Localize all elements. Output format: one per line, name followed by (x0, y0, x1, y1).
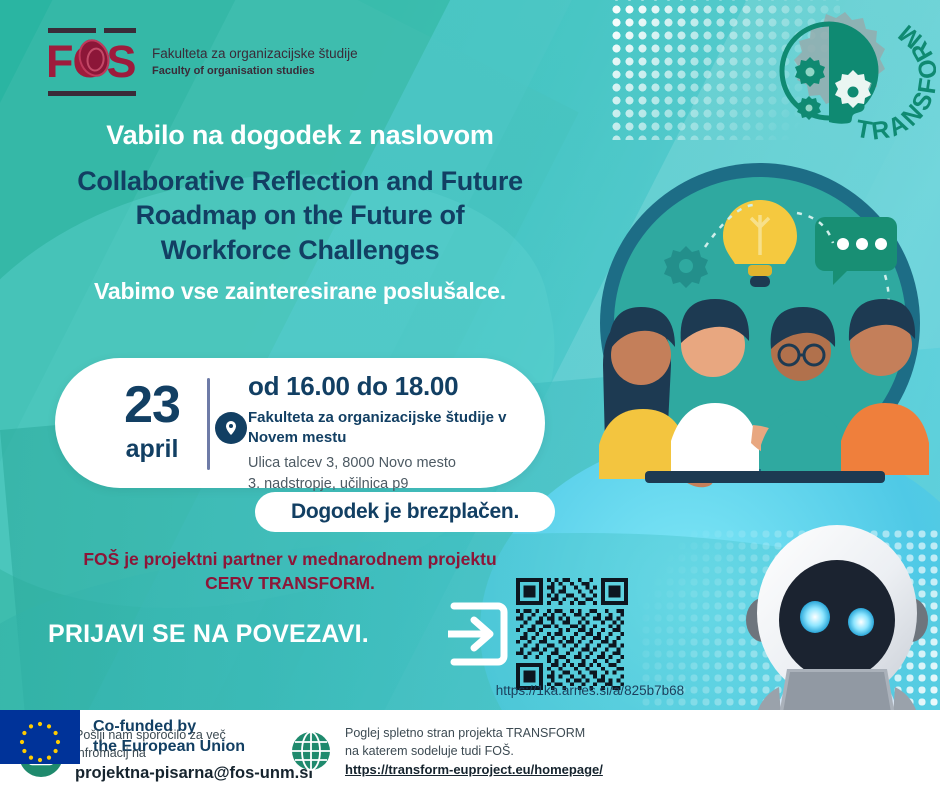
free-event-label: Dogodek je brezplačen. (291, 500, 519, 524)
fos-name-english: Faculty of organisation studies (152, 65, 358, 78)
robot-eye-right (848, 608, 874, 636)
location-pin-icon (215, 412, 247, 444)
title-line-1: Collaborative Reflection and Future (10, 164, 590, 198)
free-event-badge: Dogodek je brezplačen. (255, 492, 555, 532)
venue-line-1: Fakulteta za organizacijske študije v (248, 408, 533, 428)
signup-label: PRIJAVI SE NA POVEZAVI. (48, 620, 369, 649)
fos-logo-name: Fakulteta za organizacijske študije Facu… (152, 46, 358, 78)
web-text-line-1: Poglej spletno stran projekta TRANSFORM (345, 724, 603, 742)
invite-heading: Vabilo na dogodek z naslovom (0, 120, 600, 151)
mail-text-line-2: infromacij na (75, 744, 313, 762)
title-line-2: Roadmap on the Future of (10, 198, 590, 232)
event-month: april (97, 435, 207, 464)
event-details-card: 23 april od 16.00 do 18.00 Fakulteta za … (55, 358, 545, 488)
event-time: od 16.00 do 18.00 (248, 371, 458, 402)
footer-project-url[interactable]: https://transform-euproject.eu/homepage/ (345, 762, 603, 777)
signup-qr-code[interactable] (516, 578, 628, 690)
signup-url[interactable]: https://1ka.arnes.si/a/825b7b68 (470, 683, 710, 698)
footer-mail-text: Pošlji nam sporočilo za več infromacij n… (75, 726, 313, 783)
eu-flag-icon (0, 710, 80, 764)
event-day-number: 23 (97, 380, 207, 431)
card-divider (207, 378, 210, 470)
footer-email-address[interactable]: projektna-pisarna@fos-unm.si (75, 764, 313, 783)
event-poster: FOS Fakulteta za organizacijske študije … (0, 0, 940, 788)
event-date: 23 april (97, 380, 207, 464)
fos-bar-top-left (48, 28, 96, 33)
transform-logo: TRANSFORM (726, 0, 936, 166)
fos-logo: FOS Fakulteta za organizacijske študije … (46, 26, 358, 98)
page-title: Collaborative Reflection and Future Road… (10, 164, 590, 267)
fos-bar-bottom (48, 91, 136, 96)
address-line-1: Ulica talcev 3, 8000 Novo mesto (248, 453, 548, 474)
footer-contact-web: Poglej spletno stran projekta TRANSFORM … (288, 724, 603, 777)
event-address: Ulica talcev 3, 8000 Novo mesto 3. nadst… (248, 453, 548, 494)
fos-bar-top-right (104, 28, 136, 33)
subtitle: Vabimo vse zainteresirane poslušalce. (0, 278, 600, 305)
footer-web-text: Poglej spletno stran projekta TRANSFORM … (345, 724, 603, 777)
partner-line-1: FOŠ je projektni partner v mednarodnem p… (30, 548, 550, 572)
robot-face-screen (779, 560, 895, 680)
mail-text-line-1: Pošlji nam sporočilo za več (75, 726, 313, 744)
title-line-3: Workforce Challenges (10, 233, 590, 267)
robot-eye-left (800, 601, 830, 633)
partner-note: FOŠ je projektni partner v mednarodnem p… (30, 548, 550, 595)
fos-name-slovene: Fakulteta za organizacijske študije (152, 46, 358, 62)
event-venue: Fakulteta za organizacijske študije v No… (248, 408, 533, 448)
web-text-line-2: na katerem sodeluje tudi FOŠ. (345, 742, 603, 760)
globe-icon (288, 728, 334, 774)
venue-line-2: Novem mestu (248, 428, 533, 448)
fos-logo-mark: FOS (46, 26, 138, 98)
footer-bar: Pošlji nam sporočilo za več infromacij n… (0, 710, 940, 788)
enter-arrow-icon[interactable] (448, 598, 510, 670)
partner-line-2: CERV TRANSFORM. (30, 572, 550, 596)
